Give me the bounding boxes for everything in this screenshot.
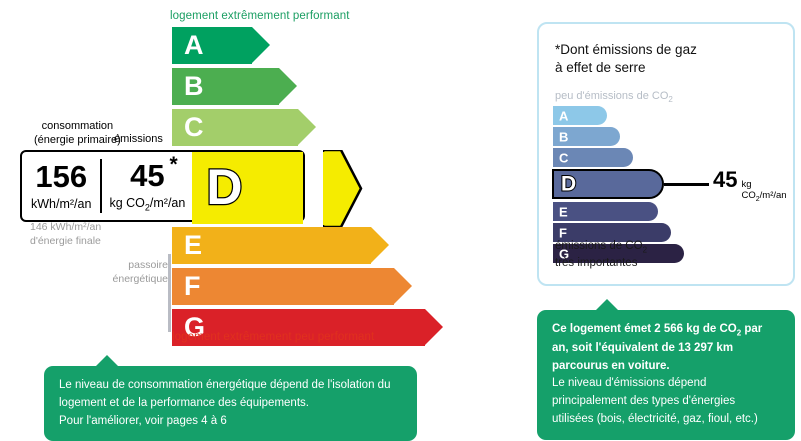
energy-bar-row-d-highlighted: 156 kWh/m²/an 45* kg CO2/m²/an D [172,150,425,222]
energy-bar-row-e: E [172,227,425,264]
energy-class-bars: A B C 156 kWh/m²/an [172,27,425,350]
co2-bar-row-b: B [553,127,684,146]
primary-energy-unit: kWh/m²/an [31,197,91,211]
co2-top-caption: peu d'émissions de CO2 [555,90,673,104]
co2-bar-letter-f: F [559,226,567,239]
energy-bar-row-b: B [172,68,425,105]
co2-leader-line [664,183,709,186]
emissions-value: 45* [130,160,164,191]
energy-bar-letter-f: F [184,272,201,299]
co2-bar-letter-e: E [559,205,568,218]
energy-bar-letter-d: D [206,162,242,212]
co2-bar-row-c: C [553,148,684,167]
emissions-kpi: 45* kg CO2/m²/an [100,152,194,220]
co2-bar-row-a: A [553,106,684,125]
energy-bar-d: D [192,152,303,224]
co2-bar-letter-d: D [561,174,576,195]
scale-top-caption: logement extrêmement performant [170,10,350,22]
co2-bar-letter-c: C [559,151,568,164]
callout-arrow-icon [96,355,118,366]
passoire-bracket [168,254,171,332]
co2-bar-letter-b: B [559,130,568,143]
emissions-unit: kg CO2/m²/an [109,196,185,213]
co2-bar-letter-a: A [559,109,568,122]
scale-bottom-caption: logement extrêmement peu performant [172,331,374,343]
primary-energy-value: 156 [35,161,87,192]
callout-arrow-icon [596,299,618,310]
consumption-label: consommation (énergie primaire) [34,120,121,148]
energy-bar-letter-e: E [184,231,202,258]
consumption-value-box: 156 kWh/m²/an 45* kg CO2/m²/an D [20,150,305,222]
emissions-label: émissions [114,133,163,145]
energy-bar-letter-a: A [184,31,204,58]
passoire-energetique-label: passoire énergétique [106,258,168,286]
co2-bottom-caption: émissions de CO2 très importantes [555,239,647,272]
energy-bar-tip-f [394,268,412,304]
energy-bar-tip-e [371,227,389,263]
energy-bar-tip-d [323,150,363,227]
co2-bar-row-d-highlighted: D 45 kg CO2/m²/an [553,169,684,199]
energy-bar-letter-c: C [184,113,204,140]
final-energy-note: 146 kWh/m²/an d'énergie finale [30,221,101,248]
energy-bar-row-a: A [172,27,425,64]
co2-value-number: 45 [713,169,737,191]
co2-bar-row-e: E [553,202,684,221]
emissions-info-callout: Ce logement émet 2 566 kg de CO2 par an,… [537,310,795,440]
energy-bar-tip-b [279,68,297,104]
energy-bar-tip-c [298,109,316,145]
co2-panel-title: *Dont émissions de gaz à effet de serre [555,41,697,77]
asterisk-marker: * [169,154,177,175]
primary-energy-kpi: 156 kWh/m²/an [22,152,100,220]
energy-bar-row-c: C [172,109,425,146]
energy-bar-row-f: F [172,268,425,305]
energy-bar-letter-b: B [184,72,204,99]
energy-bar-tip-g [425,309,443,345]
co2-value-unit: kg CO2/m²/an [741,179,786,203]
energy-bar-tip-a [252,27,270,63]
co2-value-annotation: 45 kg CO2/m²/an [713,169,787,203]
greenhouse-gas-panel: *Dont émissions de gaz à effet de serre … [537,22,795,286]
